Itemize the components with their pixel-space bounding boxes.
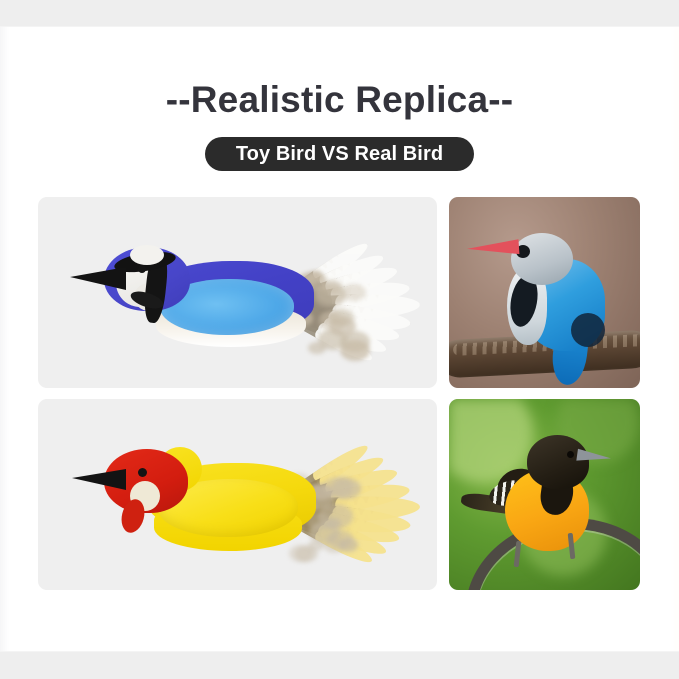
- bottom-band: [0, 651, 679, 679]
- oriole-scene: [449, 399, 640, 590]
- oriole-head: [527, 435, 589, 489]
- comparison-row-1: [38, 197, 640, 388]
- kingfisher-head: [511, 233, 573, 285]
- tail-down-tuft: [289, 545, 313, 562]
- product-image-canvas: --Realistic Replica-- Toy Bird VS Real B…: [0, 0, 679, 679]
- toy-bird-panel-yellow: [38, 399, 437, 590]
- page-title: --Realistic Replica--: [0, 78, 679, 122]
- toy-beak: [70, 267, 126, 290]
- toy-beak: [72, 469, 126, 490]
- real-bird-photo-kingfisher: [449, 197, 640, 388]
- tail-down-tuft: [331, 478, 361, 499]
- yellow-flicker-toy-illustration: [38, 399, 437, 590]
- tail-down-tuft: [323, 537, 346, 553]
- kingfisher-scene: [449, 197, 640, 388]
- kingfisher-wing-patch: [571, 313, 605, 347]
- top-band: [0, 0, 679, 27]
- real-bird-photo-oriole: [449, 399, 640, 590]
- toy-bird-panel-blue: [38, 197, 437, 388]
- comparison-row-2: [38, 399, 640, 590]
- comparison-badge: Toy Bird VS Real Bird: [205, 137, 474, 171]
- blue-jay-toy-illustration: [38, 197, 437, 388]
- toy-eye: [138, 468, 147, 477]
- tail-down-tuft: [314, 286, 345, 308]
- toy-eye: [138, 265, 146, 273]
- toy-crown-patch: [130, 245, 164, 265]
- oriole-eye: [567, 451, 574, 458]
